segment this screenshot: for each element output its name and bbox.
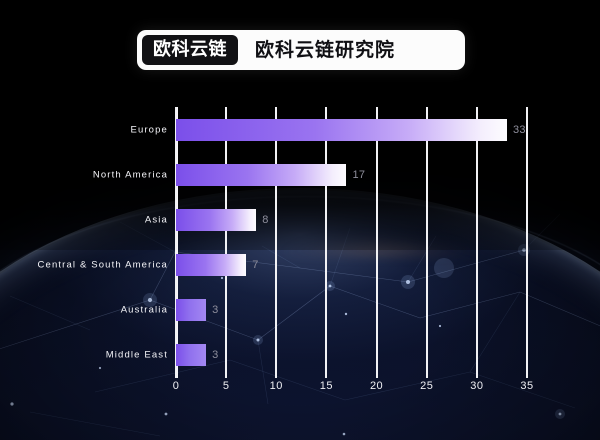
x-tick-label: 5 <box>223 380 230 392</box>
bar-value-label: 3 <box>212 304 218 316</box>
category-label: Central & South America <box>38 260 168 271</box>
category-label-wrap: North America <box>0 164 176 186</box>
gridline-5 <box>225 107 227 378</box>
x-tick-label: 20 <box>370 380 383 392</box>
x-tick-label: 25 <box>420 380 433 392</box>
gridline-30 <box>476 107 478 378</box>
x-tick-label: 30 <box>470 380 483 392</box>
bar-value-label: 3 <box>212 349 218 361</box>
category-label-wrap: Australia <box>0 299 176 321</box>
bar-row: Australia3 <box>0 299 600 321</box>
bar-row: Asia8 <box>0 209 600 231</box>
gridline-15 <box>325 107 327 378</box>
bar-chart: 05101520253035 Europe33North America17As… <box>0 0 600 440</box>
category-label-wrap: Central & South America <box>0 254 176 276</box>
category-label-wrap: Asia <box>0 209 176 231</box>
bar-row: North America17 <box>0 164 600 186</box>
bar <box>176 299 206 321</box>
gridline-10 <box>275 107 277 378</box>
category-label: Australia <box>121 305 168 316</box>
screenshot-canvas: 欧科云链 欧科云链研究院 05101520253035 Europe33Nort… <box>0 0 600 440</box>
x-tick-label: 35 <box>520 380 533 392</box>
category-label: Europe <box>130 124 168 135</box>
bar-value-label: 8 <box>262 214 268 226</box>
x-tick-label: 15 <box>320 380 333 392</box>
gridline-35 <box>526 107 528 378</box>
category-label-wrap: Middle East <box>0 344 176 366</box>
x-tick-label: 10 <box>270 380 283 392</box>
gridline-20 <box>376 107 378 378</box>
gridline-25 <box>426 107 428 378</box>
bar <box>176 164 346 186</box>
bar-row: Middle East3 <box>0 344 600 366</box>
bar <box>176 209 256 231</box>
x-tick-label: 0 <box>173 380 180 392</box>
category-label: North America <box>93 169 168 180</box>
bar-value-label: 33 <box>513 124 526 136</box>
bar-value-label: 17 <box>352 169 365 181</box>
bar <box>176 344 206 366</box>
gridline-0 <box>175 107 177 378</box>
category-label-wrap: Europe <box>0 119 176 141</box>
bar <box>176 254 246 276</box>
category-label: Middle East <box>106 350 168 361</box>
bar <box>176 119 507 141</box>
bar-row: Europe33 <box>0 119 600 141</box>
category-label: Asia <box>145 214 168 225</box>
bar-value-label: 7 <box>252 259 258 271</box>
bar-row: Central & South America7 <box>0 254 600 276</box>
